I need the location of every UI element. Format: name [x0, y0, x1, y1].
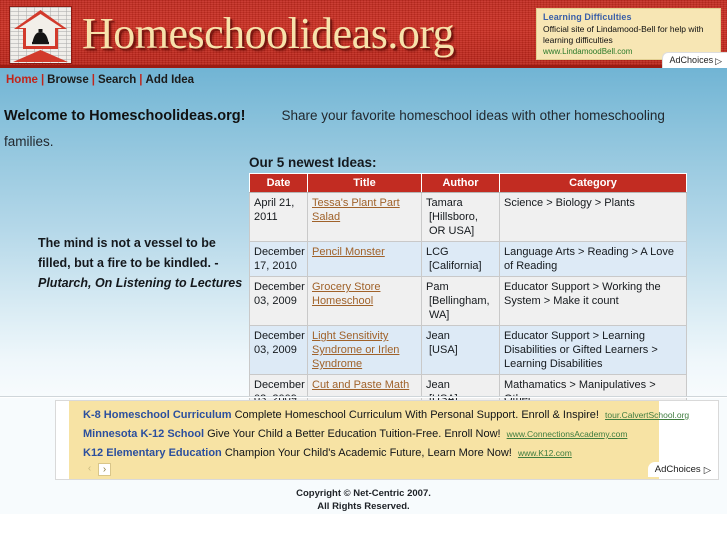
nav-item-home[interactable]: Home	[6, 74, 38, 86]
bottom-ad-pager: ‹›	[83, 463, 113, 476]
idea-link[interactable]: Pencil Monster	[312, 246, 385, 258]
quote-text: The mind is not a vessel to be filled, b…	[38, 236, 219, 270]
bottom-ad-line[interactable]: Minnesota K-12 School Give Your Child a …	[83, 428, 627, 440]
column-header-author: Author	[422, 174, 500, 193]
header-adchoices-button[interactable]: AdChoices▷	[662, 52, 727, 68]
quote-attribution: Plutarch, On Listening to Lectures	[38, 276, 242, 290]
cell-title: Tessa's Plant Part Salad	[308, 193, 422, 242]
table-header-row: Date Title Author Category	[250, 174, 687, 193]
bottom-ad-panel: K-8 Homeschool Curriculum Complete Homes…	[69, 401, 659, 479]
author-name: Tamara	[426, 197, 463, 209]
triangle-right-icon: ▷	[715, 56, 722, 67]
author-location: [Bellingham, WA]	[426, 294, 495, 322]
cell-date: December 03, 2009	[250, 277, 308, 326]
bottom-ad-title[interactable]: K-8 Homeschool Curriculum	[83, 409, 232, 421]
column-header-title: Title	[308, 174, 422, 193]
cell-date: December 17, 2010	[250, 242, 308, 277]
bottom-adchoices-label: AdChoices	[655, 464, 701, 475]
cell-author: LCG[California]	[422, 242, 500, 277]
cell-category: Science > Biology > Plants	[500, 193, 687, 242]
author-name: Pam	[426, 281, 449, 293]
author-location: [USA]	[426, 343, 495, 357]
site-title: Homeschoolideas.org	[82, 4, 454, 64]
bottom-ad-description: Champion Your Child's Academic Future, L…	[225, 447, 512, 459]
pager-prev-button[interactable]: ‹	[83, 463, 96, 476]
bottom-ad-line[interactable]: K-8 Homeschool Curriculum Complete Homes…	[83, 409, 689, 421]
bottom-adchoices-button[interactable]: AdChoices▷	[648, 462, 716, 477]
cell-category: Language Arts > Reading > A Love of Read…	[500, 242, 687, 277]
bottom-ad-title[interactable]: Minnesota K-12 School	[83, 428, 204, 440]
cell-category: Educator Support > Learning Disabilities…	[500, 326, 687, 375]
nav-separator: |	[38, 74, 47, 86]
cell-date: April 21, 2011	[250, 193, 308, 242]
bottom-ad-container: K-8 Homeschool Curriculum Complete Homes…	[55, 400, 719, 480]
bottom-ad-description: Complete Homeschool Curriculum With Pers…	[235, 409, 599, 421]
welcome-heading: Welcome to Homeschoolideas.org!	[4, 108, 245, 124]
idea-link[interactable]: Cut and Paste Math	[312, 379, 409, 391]
idea-link[interactable]: Grocery Store Homeschool	[312, 281, 380, 307]
nav-item-add-idea[interactable]: Add Idea	[146, 74, 195, 86]
cell-date: December 03, 2009	[250, 326, 308, 375]
cell-title: Light Sensitivity Syndrome or Irlen Synd…	[308, 326, 422, 375]
cell-author: Pam[Bellingham, WA]	[422, 277, 500, 326]
header-ad-title[interactable]: Learning Difficulties	[543, 12, 720, 22]
bottom-ad-url[interactable]: www.K12.com	[518, 448, 572, 458]
footer-background-fill	[0, 514, 727, 545]
column-header-date: Date	[250, 174, 308, 193]
table-row: December 03, 2009 Grocery Store Homescho…	[250, 277, 687, 326]
nav-separator: |	[136, 74, 145, 86]
triangle-right-icon: ▷	[704, 465, 711, 476]
site-header-banner: Homeschoolideas.org Learning Difficultie…	[0, 0, 727, 68]
page-footer: Copyright © Net-Centric 2007. All Rights…	[0, 487, 727, 513]
table-row: April 21, 2011 Tessa's Plant Part Salad …	[250, 193, 687, 242]
newest-ideas-table: Date Title Author Category April 21, 201…	[249, 173, 687, 410]
page-root: Homeschoolideas.org Learning Difficultie…	[0, 0, 727, 545]
cell-title: Grocery Store Homeschool	[308, 277, 422, 326]
cell-title: Pencil Monster	[308, 242, 422, 277]
author-name: LCG	[426, 246, 449, 258]
content-divider	[0, 396, 727, 398]
banner-divider	[0, 65, 727, 68]
footer-rights: All Rights Reserved.	[0, 500, 727, 513]
bottom-ad-title[interactable]: K12 Elementary Education	[83, 447, 222, 459]
nav-separator: |	[89, 74, 98, 86]
author-name: Jean	[426, 379, 450, 391]
author-name: Jean	[426, 330, 450, 342]
footer-copyright: Copyright © Net-Centric 2007.	[0, 487, 727, 500]
header-adchoices-label: AdChoices	[670, 55, 714, 65]
main-navigation: Home|Browse|Search|Add Idea	[6, 74, 194, 86]
cell-author: Tamara[Hillsboro, OR USA]	[422, 193, 500, 242]
nav-item-search[interactable]: Search	[98, 74, 136, 86]
ideas-table-heading: Our 5 newest Ideas:	[249, 155, 377, 170]
inspirational-quote: The mind is not a vessel to be filled, b…	[38, 233, 243, 293]
idea-link[interactable]: Tessa's Plant Part Salad	[312, 197, 400, 223]
table-row: December 17, 2010 Pencil Monster LCG[Cal…	[250, 242, 687, 277]
bottom-ad-description: Give Your Child a Better Education Tuiti…	[207, 428, 500, 440]
author-location: [California]	[426, 259, 495, 273]
welcome-block: Welcome to Homeschoolideas.org!Share you…	[4, 103, 704, 155]
idea-link[interactable]: Light Sensitivity Syndrome or Irlen Synd…	[312, 330, 399, 370]
cell-category: Educator Support > Working the System > …	[500, 277, 687, 326]
bottom-ad-url[interactable]: tour.CalvertSchool.org	[605, 410, 689, 420]
author-location: [Hillsboro, OR USA]	[426, 210, 495, 238]
bottom-ad-line[interactable]: K12 Elementary Education Champion Your C…	[83, 447, 572, 459]
nav-item-browse[interactable]: Browse	[47, 74, 89, 86]
cell-author: Jean[USA]	[422, 326, 500, 375]
schoolhouse-bell-icon	[9, 6, 72, 64]
column-header-category: Category	[500, 174, 687, 193]
pager-next-button[interactable]: ›	[98, 463, 111, 476]
bottom-ad-url[interactable]: www.ConnectionsAcademy.com	[507, 429, 628, 439]
header-ad-description: Official site of Lindamood-Bell for help…	[543, 24, 714, 46]
table-row: December 03, 2009 Light Sensitivity Synd…	[250, 326, 687, 375]
